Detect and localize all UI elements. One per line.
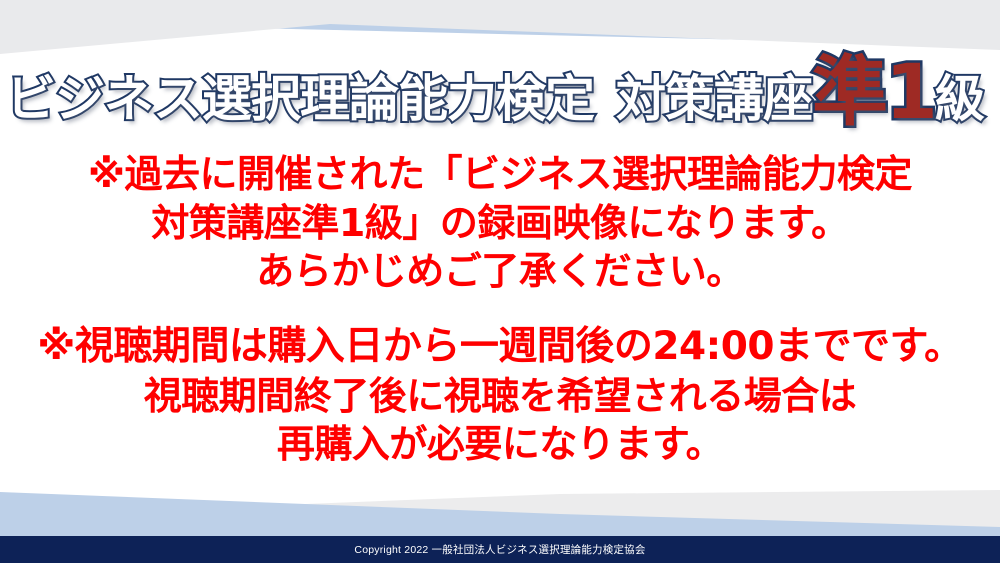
title-main-text: ビジネス選択理論能力検定 (6, 74, 594, 124)
notice-line: ※過去に開催された「ビジネス選択理論能力検定 (0, 150, 1000, 199)
notice-line: 再購入が必要になります。 (0, 420, 1000, 469)
title-rank-number: 準1 (812, 54, 935, 130)
title-sub-text: 対策講座 (616, 74, 812, 124)
paragraph-recording-notice: ※過去に開催された「ビジネス選択理論能力検定 対策講座準1級」の録画映像になりま… (0, 150, 1000, 296)
body-notices: ※過去に開催された「ビジネス選択理論能力検定 対策講座準1級」の録画映像になりま… (0, 150, 1000, 469)
footer-bar: Copyright 2022 一般社団法人ビジネス選択理論能力検定協会 (0, 536, 1000, 563)
paragraph-viewing-period-notice: ※視聴期間は購入日から一週間後の24:00までです。 視聴期間終了後に視聴を希望… (0, 322, 1000, 469)
title-rank-suffix: 級 (935, 74, 984, 124)
notice-line: 視聴期間終了後に視聴を希望される場合は (0, 372, 1000, 421)
notice-line: あらかじめご了承ください。 (0, 247, 1000, 296)
slide-canvas: ビジネス選択理論能力検定 対策講座 準1 級 ※過去に開催された「ビジネス選択理… (0, 0, 1000, 563)
copyright-text: Copyright 2022 一般社団法人ビジネス選択理論能力検定協会 (354, 542, 645, 557)
notice-line: ※視聴期間は購入日から一週間後の24:00までです。 (0, 322, 1000, 372)
notice-line: 対策講座準1級」の録画映像になります。 (0, 199, 1000, 248)
slide-title: ビジネス選択理論能力検定 対策講座 準1 級 (0, 46, 1000, 124)
